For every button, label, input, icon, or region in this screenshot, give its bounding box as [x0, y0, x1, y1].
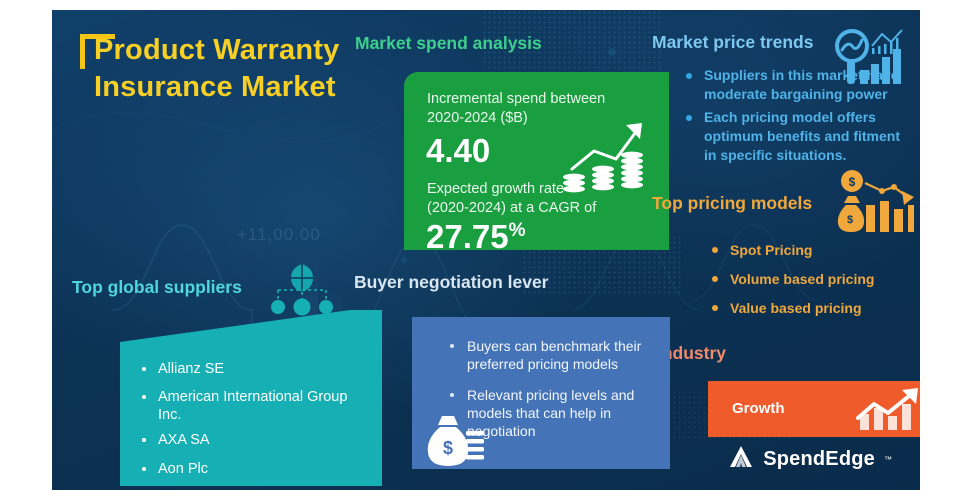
price-trend-bullet-1 — [686, 73, 692, 79]
page-title: Product Warranty Insurance Market — [94, 32, 339, 105]
pricing-model-bullet-1 — [712, 247, 718, 253]
supplier-item-1: Allianz SE — [158, 360, 224, 379]
svg-text:$: $ — [847, 214, 853, 226]
supplier-item-2-line-2: Inc. — [158, 406, 181, 425]
infographic-board: +11,00.00 Product Warranty Insurance Mar… — [52, 10, 920, 490]
trademark-symbol: ™ — [884, 455, 892, 464]
top-pricing-models-heading: Top pricing models — [652, 193, 812, 214]
market-spend-panel: Incremental spend between 2020-2024 ($B)… — [404, 72, 669, 250]
pricing-model-bullet-2 — [712, 276, 718, 282]
pricing-model-item-2: Volume based pricing — [730, 270, 874, 289]
pricing-model-item-3: Value based pricing — [730, 299, 862, 318]
spendedge-triangle-logo-icon — [728, 445, 754, 474]
supplier-bullet-3 — [142, 438, 146, 442]
cagr-value: 27.75% — [426, 220, 526, 253]
price-trend-item-2-line-1: Each pricing model offers — [704, 108, 876, 127]
industry-status-label: Growth — [732, 400, 785, 417]
buyer-negotiation-panel: Buyers can benchmark their preferred pri… — [412, 317, 670, 469]
buyer-bullet-2 — [450, 393, 454, 397]
pricing-model-item-1: Spot Pricing — [730, 241, 812, 260]
cagr-percent-sign: % — [509, 220, 526, 241]
buyer-item-1-line-2: preferred pricing models — [467, 355, 618, 374]
industry-growth-badge: Growth — [708, 381, 920, 437]
price-trend-bullet-2 — [686, 115, 692, 121]
title-line-1: Product Warranty — [94, 32, 339, 69]
cagr-number: 27.75 — [426, 218, 509, 255]
spendedge-logo-text: SpendEdge — [763, 448, 875, 471]
corner-bracket-decoration — [80, 34, 115, 69]
supplier-item-2-line-1: American International Group — [158, 388, 347, 407]
supplier-bullet-4 — [142, 467, 146, 471]
price-trend-item-1-line-1: Suppliers in this market have — [704, 66, 899, 85]
title-line-2: Insurance Market — [94, 69, 339, 106]
price-trend-item-2-line-3: in specific situations. — [704, 146, 846, 165]
market-spend-heading: Market spend analysis — [355, 33, 542, 54]
pricing-model-bullet-3 — [712, 305, 718, 311]
svg-text:$: $ — [849, 175, 856, 189]
supplier-bullet-1 — [142, 367, 146, 371]
svg-text:$: $ — [443, 438, 453, 458]
supplier-item-4: Aon Plc — [158, 460, 208, 479]
buyer-negotiation-heading: Buyer negotiation lever — [354, 272, 549, 293]
incremental-spend-value: 4.40 — [426, 134, 490, 167]
supplier-item-3: AXA SA — [158, 431, 210, 450]
spendedge-logo: SpendEdge ™ — [728, 445, 892, 474]
buyer-bullet-1 — [450, 344, 454, 348]
supplier-bullet-2 — [142, 395, 146, 399]
background-number: +11,00.00 — [237, 225, 321, 245]
top-global-suppliers-heading: Top global suppliers — [72, 277, 242, 298]
buyer-item-2-line-1: Relevant pricing levels and — [467, 386, 634, 405]
top-global-suppliers-panel: Allianz SE American International Group … — [120, 310, 382, 486]
price-trend-item-1-line-2: moderate bargaining power — [704, 85, 888, 104]
market-price-trends-heading: Market price trends — [652, 32, 813, 53]
buyer-item-2-line-2: models that can help in — [467, 404, 611, 423]
infographic-root: +11,00.00 Product Warranty Insurance Mar… — [0, 0, 960, 502]
price-trend-item-2-line-2: optimum benefits and fitment — [704, 127, 900, 146]
buyer-item-1-line-1: Buyers can benchmark their — [467, 337, 641, 356]
